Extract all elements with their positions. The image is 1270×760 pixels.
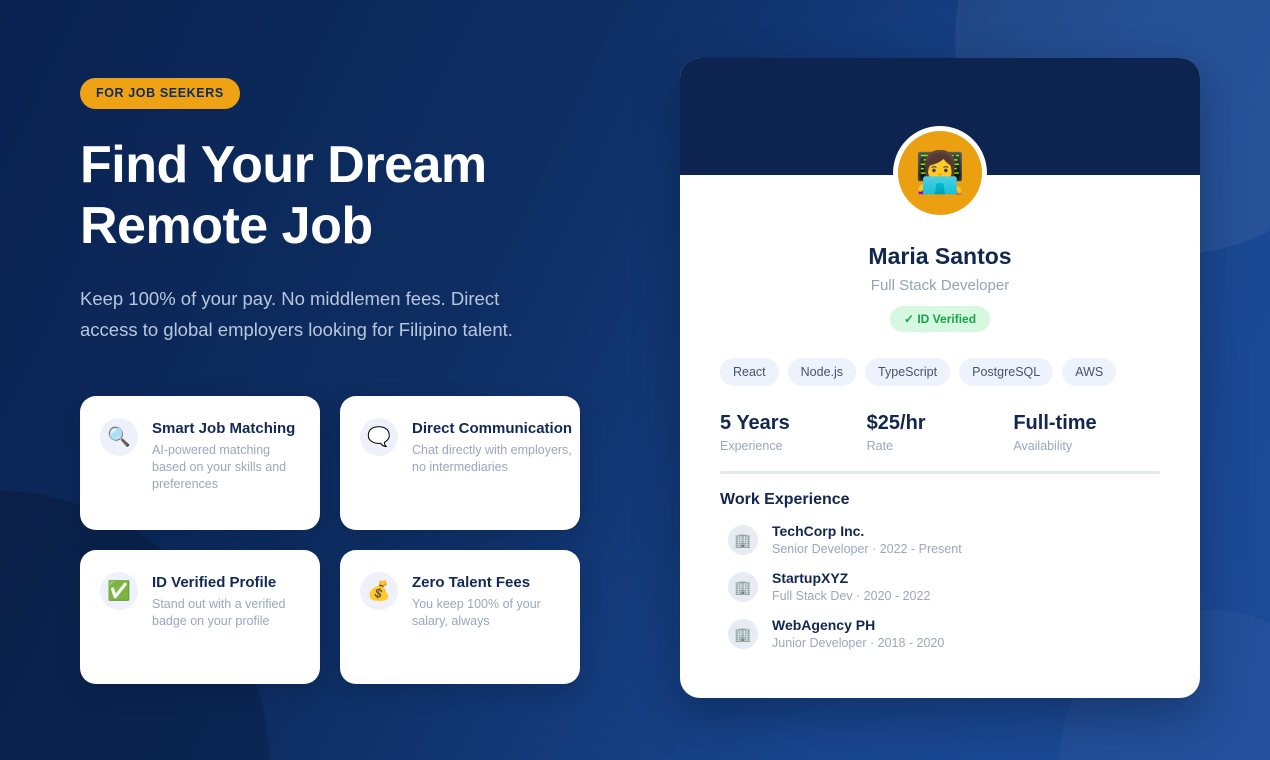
profile-stats-row: 5 Years Experience $25/hr Rate Full-time… — [680, 412, 1200, 453]
work-company-name: StartupXYZ — [772, 570, 930, 586]
avatar-container: 👩‍💻 — [680, 126, 1200, 220]
feature-description: You keep 100% of your salary, always — [412, 596, 560, 630]
avatar: 👩‍💻 — [893, 126, 987, 220]
list-item[interactable]: 🏢 WebAgency PH Junior Developer · 2018 -… — [720, 617, 1160, 650]
feature-title: Smart Job Matching — [152, 419, 300, 438]
work-company-name: TechCorp Inc. — [772, 523, 962, 539]
feature-title: Direct Communication — [412, 419, 572, 438]
profile-name: Maria Santos — [680, 243, 1200, 270]
check-mark-button-icon: ✅ — [100, 572, 138, 610]
hero-subtitle: Keep 100% of your pay. No middlemen fees… — [80, 283, 560, 345]
hero-section: FOR JOB SEEKERS Find Your Dream Remote J… — [80, 78, 600, 345]
section-divider — [720, 471, 1160, 474]
feature-description: AI-powered matching based on your skills… — [152, 442, 300, 493]
profile-card: 👩‍💻 Maria Santos Full Stack Developer ✓ … — [680, 58, 1200, 698]
feature-card-direct-communication[interactable]: 🗨️ Direct Communication Chat directly wi… — [340, 396, 580, 530]
stat-value: $25/hr — [867, 412, 1014, 435]
stat-rate: $25/hr Rate — [867, 412, 1014, 453]
skill-tag[interactable]: AWS — [1062, 358, 1116, 386]
feature-card-zero-talent-fees[interactable]: 💰 Zero Talent Fees You keep 100% of your… — [340, 550, 580, 684]
stat-value: 5 Years — [720, 412, 867, 435]
skill-tag[interactable]: React — [720, 358, 779, 386]
eyebrow-badge: FOR JOB SEEKERS — [80, 78, 240, 109]
work-role-dates: Full Stack Dev · 2020 - 2022 — [772, 589, 930, 603]
list-item[interactable]: 🏢 StartupXYZ Full Stack Dev · 2020 - 202… — [720, 570, 1160, 603]
feature-title: ID Verified Profile — [152, 573, 300, 592]
profile-role: Full Stack Developer — [680, 277, 1200, 294]
feature-title: Zero Talent Fees — [412, 573, 560, 592]
stat-value: Full-time — [1013, 412, 1160, 435]
office-building-icon: 🏢 — [728, 525, 758, 555]
status-badge-id-verified: ✓ ID Verified — [890, 306, 990, 332]
work-company-name: WebAgency PH — [772, 617, 944, 633]
page-title: Find Your Dream Remote Job — [80, 135, 600, 257]
stat-experience: 5 Years Experience — [720, 412, 867, 453]
speech-balloon-icon: 🗨️ — [360, 418, 398, 456]
stat-availability: Full-time Availability — [1013, 412, 1160, 453]
skill-tag-list: React Node.js TypeScript PostgreSQL AWS — [680, 358, 1200, 386]
verified-badge-container: ✓ ID Verified — [680, 306, 1200, 332]
work-role-dates: Senior Developer · 2022 - Present — [772, 542, 962, 556]
stat-label: Experience — [720, 439, 867, 453]
feature-card-id-verified-profile[interactable]: ✅ ID Verified Profile Stand out with a v… — [80, 550, 320, 684]
stat-label: Availability — [1013, 439, 1160, 453]
office-building-icon: 🏢 — [728, 619, 758, 649]
office-building-icon: 🏢 — [728, 572, 758, 602]
stat-label: Rate — [867, 439, 1014, 453]
feature-description: Stand out with a verified badge on your … — [152, 596, 300, 630]
money-bag-icon: 💰 — [360, 572, 398, 610]
work-role-dates: Junior Developer · 2018 - 2020 — [772, 636, 944, 650]
headline-line-2: Remote Job — [80, 197, 373, 255]
feature-card-smart-job-matching[interactable]: 🔍 Smart Job Matching AI-powered matching… — [80, 396, 320, 530]
feature-description: Chat directly with employers, no interme… — [412, 442, 572, 476]
list-item[interactable]: 🏢 TechCorp Inc. Senior Developer · 2022 … — [720, 523, 1160, 556]
magnifying-glass-icon: 🔍 — [100, 418, 138, 456]
skill-tag[interactable]: PostgreSQL — [959, 358, 1053, 386]
work-experience-list: 🏢 TechCorp Inc. Senior Developer · 2022 … — [720, 523, 1160, 650]
headline-line-1: Find Your Dream — [80, 136, 487, 194]
skill-tag[interactable]: TypeScript — [865, 358, 950, 386]
feature-card-grid: 🔍 Smart Job Matching AI-powered matching… — [80, 396, 580, 684]
work-experience-heading: Work Experience — [720, 491, 1160, 509]
skill-tag[interactable]: Node.js — [788, 358, 856, 386]
page-root: FOR JOB SEEKERS Find Your Dream Remote J… — [0, 0, 1270, 760]
